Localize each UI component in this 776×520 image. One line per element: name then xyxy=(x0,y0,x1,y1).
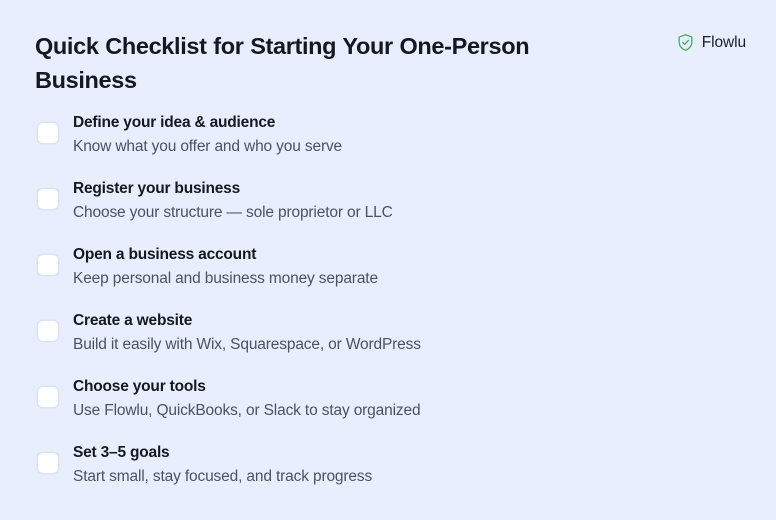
checklist-item[interactable]: Open a business account Keep personal an… xyxy=(0,244,776,308)
checklist-item-subtitle: Build it easily with Wix, Squarespace, o… xyxy=(73,334,776,355)
checklist-item[interactable]: Create a website Build it easily with Wi… xyxy=(0,310,776,374)
checklist-item-title: Set 3–5 goals xyxy=(73,442,776,463)
checklist-item-text: Register your business Choose your struc… xyxy=(37,178,776,223)
checklist-item-subtitle: Use Flowlu, QuickBooks, or Slack to stay… xyxy=(73,400,776,421)
checklist-item-title: Choose your tools xyxy=(73,376,776,397)
shield-check-icon xyxy=(676,33,695,52)
checklist-item-title: Create a website xyxy=(73,310,776,331)
checklist-item-title: Define your idea & audience xyxy=(73,112,776,133)
checklist-item-subtitle: Keep personal and business money separat… xyxy=(73,268,776,289)
checklist-item-text: Create a website Build it easily with Wi… xyxy=(37,310,776,355)
checkbox-create-a-website[interactable] xyxy=(37,320,59,342)
checklist-item[interactable]: Set 3–5 goals Start small, stay focused,… xyxy=(0,442,776,506)
checkbox-open-a-business-account[interactable] xyxy=(37,254,59,276)
card-header: Quick Checklist for Starting Your One-Pe… xyxy=(0,0,776,105)
checklist-item[interactable]: Define your idea & audience Know what yo… xyxy=(0,112,776,176)
checkbox-set-3-5-goals[interactable] xyxy=(37,452,59,474)
checklist: Define your idea & audience Know what yo… xyxy=(0,110,776,506)
checkbox-register-your-business[interactable] xyxy=(37,188,59,210)
checklist-item-title: Register your business xyxy=(73,178,776,199)
checklist-item-subtitle: Start small, stay focused, and track pro… xyxy=(73,466,776,487)
checklist-item-subtitle: Choose your structure — sole proprietor … xyxy=(73,202,776,223)
checklist-card: Quick Checklist for Starting Your One-Pe… xyxy=(0,0,776,520)
checklist-item-text: Open a business account Keep personal an… xyxy=(37,244,776,289)
brand-name: Flowlu xyxy=(702,35,746,51)
checklist-item-text: Define your idea & audience Know what yo… xyxy=(37,112,776,157)
checklist-item-title: Open a business account xyxy=(73,244,776,265)
checklist-item[interactable]: Choose your tools Use Flowlu, QuickBooks… xyxy=(0,376,776,440)
checklist-item[interactable]: Register your business Choose your struc… xyxy=(0,178,776,242)
checklist-item-subtitle: Know what you offer and who you serve xyxy=(73,136,776,157)
checklist-item-text: Set 3–5 goals Start small, stay focused,… xyxy=(37,442,776,487)
checkbox-choose-your-tools[interactable] xyxy=(37,386,59,408)
page-title: Quick Checklist for Starting Your One-Pe… xyxy=(35,29,555,97)
checkbox-define-your-idea-audience[interactable] xyxy=(37,122,59,144)
brand-logo: Flowlu xyxy=(676,33,746,52)
checklist-item-text: Choose your tools Use Flowlu, QuickBooks… xyxy=(37,376,776,421)
